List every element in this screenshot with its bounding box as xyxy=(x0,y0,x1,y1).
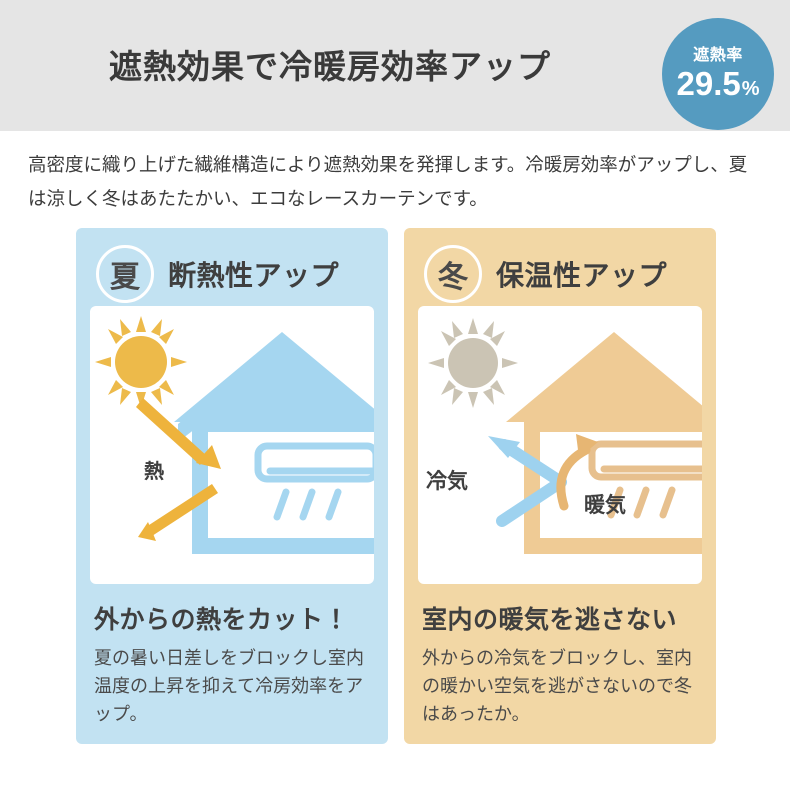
intro-paragraph: 高密度に織り上げた繊維構造により遮熱効果を発揮します。冷暖房効率がアップし、夏は… xyxy=(28,148,763,216)
panel-summer-title: 外からの熱をカット！ xyxy=(90,600,374,636)
panel-winter-title: 室内の暖気を逃さない xyxy=(418,600,702,636)
badge-unit: % xyxy=(742,79,760,99)
illustration-winter: 冷気 暖気 xyxy=(418,306,702,584)
page-title: 遮熱効果で冷暖房効率アップ xyxy=(0,40,660,88)
panel-summer-heading: 断熱性アップ xyxy=(168,254,339,294)
sun-icon xyxy=(95,316,187,408)
badge-number: 29.5 xyxy=(676,67,740,100)
badge-value: 29.5% xyxy=(676,67,759,100)
warm-air-label: 暖気 xyxy=(584,493,626,517)
cold-air-label: 冷気 xyxy=(426,469,468,493)
panel-winter-header: 冬 保温性アップ xyxy=(418,242,702,306)
season-mark-winter: 冬 xyxy=(424,245,482,303)
panel-winter-heading: 保温性アップ xyxy=(496,254,667,294)
badge-label: 遮熱率 xyxy=(693,48,743,64)
panel-group: 夏 断熱性アップ xyxy=(76,228,716,744)
panel-summer-header: 夏 断熱性アップ xyxy=(90,242,374,306)
illustration-summer: 熱 xyxy=(90,306,374,584)
panel-winter-body: 外からの冷気をブロックし、室内の暖かい空気を逃がさないので冬はあったか。 xyxy=(418,644,702,728)
panel-summer: 夏 断熱性アップ xyxy=(76,228,388,744)
sun-icon xyxy=(428,318,518,408)
infographic-page: 遮熱効果で冷暖房効率アップ 遮熱率 29.5% 高密度に織り上げた繊維構造により… xyxy=(0,0,790,790)
status-badge: 遮熱率 29.5% xyxy=(662,18,774,130)
panel-summer-body: 夏の暑い日差しをブロックし室内温度の上昇を抑えて冷房効率をアップ。 xyxy=(90,644,374,728)
season-mark-summer: 夏 xyxy=(96,245,154,303)
header-band: 遮熱効果で冷暖房効率アップ 遮熱率 29.5% xyxy=(0,0,790,131)
panel-winter: 冬 保温性アップ xyxy=(404,228,716,744)
heat-arrow-label: 熱 xyxy=(144,460,164,483)
